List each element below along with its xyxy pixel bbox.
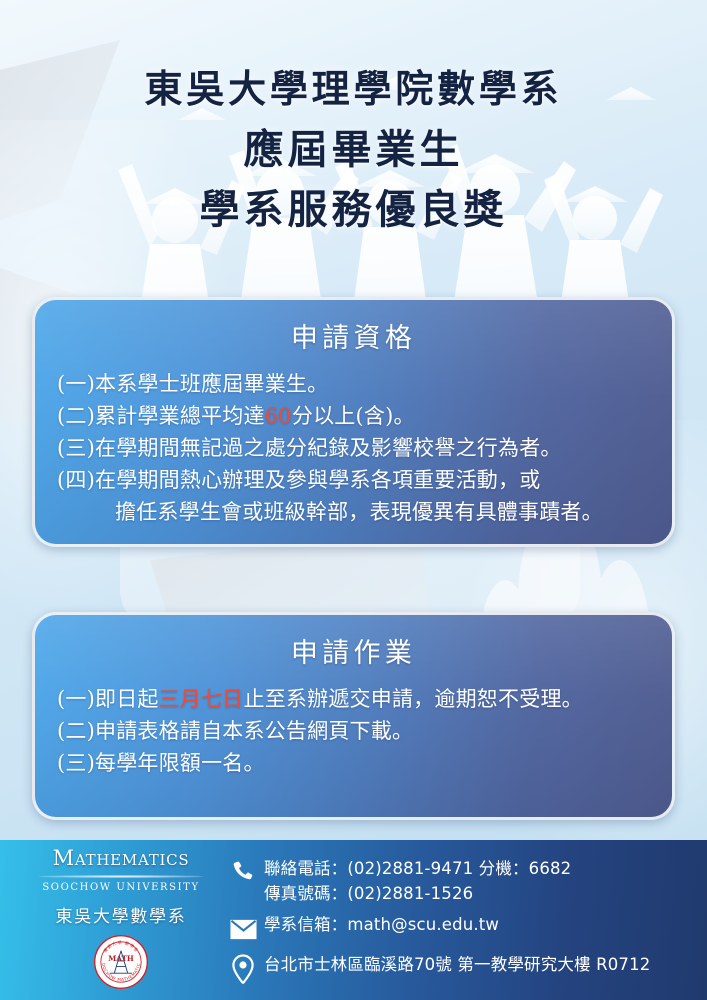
list-item: (一)本系學士班應屆畢業生。 xyxy=(57,369,650,401)
contact-phone: 聯絡電話：(02)2881-9471 分機：6682 xyxy=(264,856,571,881)
contact-row-phone: 聯絡電話：(02)2881-9471 分機：6682 傳真號碼：(02)2881… xyxy=(222,856,697,906)
item-label: (二) xyxy=(57,719,95,743)
item-label: (一) xyxy=(57,687,95,711)
item-highlight: 三月七日 xyxy=(159,687,244,711)
title-line-department: 東吳大學理學院數學系 xyxy=(0,64,707,115)
item-text: 本系學士班應屆畢業生。 xyxy=(95,372,328,396)
application-process-heading: 申請作業 xyxy=(35,615,672,670)
title-line-award: 學系服務優良獎 xyxy=(0,183,707,237)
item-text-after: 分以上(含)。 xyxy=(292,404,415,428)
location-pin-icon xyxy=(222,952,264,986)
list-item: (三)在學期間無記過之處分紀錄及影響校譽之行為者。 xyxy=(57,433,650,465)
contact-row-address: 台北市士林區臨溪路70號 第一教學研究大樓 R0712 xyxy=(222,952,697,986)
item-label: (三) xyxy=(57,436,95,460)
list-item: (四)在學期間熱心辦理及參與學系各項重要活動，或 xyxy=(57,465,650,497)
list-item: (二)申請表格請自本系公告網頁下載。 xyxy=(57,716,650,748)
list-item: (二)累計學業總平均達60分以上(含)。 xyxy=(57,401,650,433)
contact-fax: 傳真號碼：(02)2881-1526 xyxy=(264,881,571,906)
application-process-items: (一)即日起三月七日止至系辦遞交申請，逾期恕不受理。 (二)申請表格請自本系公告… xyxy=(35,670,672,780)
contact-email[interactable]: 學系信箱：math@scu.edu.tw xyxy=(264,912,499,937)
qualification-heading: 申請資格 xyxy=(35,300,672,355)
contact-row-email: 學系信箱：math@scu.edu.tw xyxy=(222,912,697,946)
contact-phone-text-group: 聯絡電話：(02)2881-9471 分機：6682 傳真號碼：(02)2881… xyxy=(264,856,571,906)
contact-address: 台北市士林區臨溪路70號 第一教學研究大樓 R0712 xyxy=(264,952,650,977)
item-highlight: 60 xyxy=(265,404,292,428)
item-text: 擔任系學生會或班級幹部，表現優異有具體事蹟者。 xyxy=(115,500,603,524)
item-text: 即日起 xyxy=(95,687,159,711)
mail-icon xyxy=(222,912,264,946)
footer-bar: Mathematics SOOCHOW UNIVERSITY 東吳大學數學系 xyxy=(0,840,707,1000)
item-text: 在學期間無記過之處分紀錄及影響校譽之行為者。 xyxy=(95,436,562,460)
item-label: (二) xyxy=(57,404,95,428)
qualification-panel: 申請資格 (一)本系學士班應屆畢業生。 (二)累計學業總平均達60分以上(含)。… xyxy=(32,297,675,547)
logo-divider xyxy=(38,875,204,878)
list-item-continuation: 擔任系學生會或班級幹部，表現優異有具體事蹟者。 xyxy=(57,497,650,529)
item-text: 累計學業總平均達 xyxy=(95,404,265,428)
list-item: (三)每學年限額一名。 xyxy=(57,748,650,780)
item-label: (三) xyxy=(57,751,95,775)
poster-root: 東吳大學理學院數學系 應屆畢業生 學系服務優良獎 申請資格 (一)本系學士班應屆… xyxy=(0,0,707,1000)
department-logo: Mathematics SOOCHOW UNIVERSITY 東吳大學數學系 xyxy=(16,846,226,994)
item-text-after: 止至系辦遞交申請，逾期恕不受理。 xyxy=(244,687,583,711)
qualification-items: (一)本系學士班應屆畢業生。 (二)累計學業總平均達60分以上(含)。 (三)在… xyxy=(35,355,672,529)
title-line-subject: 應屆畢業生 xyxy=(0,123,707,177)
item-label: (四) xyxy=(57,468,95,492)
poster-title: 東吳大學理學院數學系 應屆畢業生 學系服務優良獎 xyxy=(0,64,707,236)
svg-text:MATH: MATH xyxy=(108,954,134,963)
department-seal-icon: MATH SOOCHOW MATHEMATICS 東吳大學 數學系 xyxy=(93,934,149,990)
contact-info: 聯絡電話：(02)2881-9471 分機：6682 傳真號碼：(02)2881… xyxy=(222,856,697,992)
application-process-panel: 申請作業 (一)即日起三月七日止至系辦遞交申請，逾期恕不受理。 (二)申請表格請… xyxy=(32,612,675,820)
list-item: (一)即日起三月七日止至系辦遞交申請，逾期恕不受理。 xyxy=(57,684,650,716)
item-label: (一) xyxy=(57,372,95,396)
logo-chinese-name: 東吳大學數學系 xyxy=(16,902,226,927)
logo-university-name: SOOCHOW UNIVERSITY xyxy=(16,882,226,893)
item-text: 在學期間熱心辦理及參與學系各項重要活動，或 xyxy=(95,468,540,492)
phone-icon xyxy=(222,856,264,890)
item-text: 每學年限額一名。 xyxy=(95,751,265,775)
item-text: 申請表格請自本系公告網頁下載。 xyxy=(95,719,413,743)
logo-wordmark: Mathematics xyxy=(16,846,226,870)
